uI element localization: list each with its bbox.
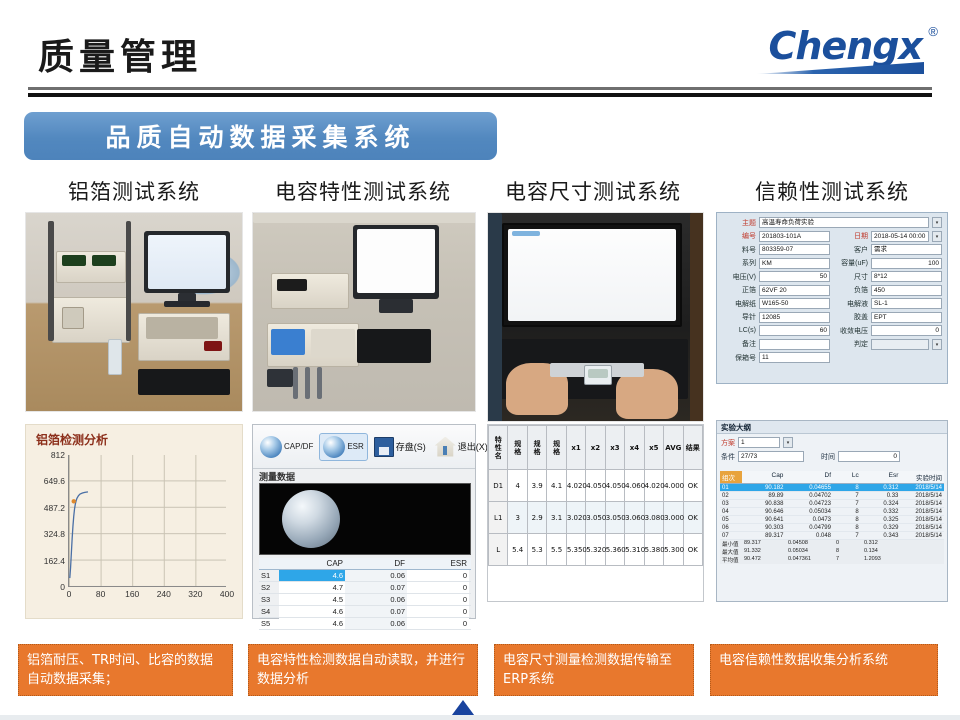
table-row[interactable]: S34.50.060 <box>259 594 471 606</box>
table-cell: S1 <box>259 570 279 581</box>
summary-cell: 平均值 <box>720 556 742 564</box>
form-field: 判定▾ <box>834 339 942 350</box>
table-cell: 2018/5/14 <box>900 524 944 531</box>
form-row: 电压(V)50尺寸8*12 <box>722 271 942 282</box>
table-cell: 0.312 <box>861 484 901 491</box>
summary-cell: 0.05034 <box>786 548 834 556</box>
table-cell: 2018/5/14 <box>900 492 944 499</box>
table-header-cell: 结果 <box>683 426 702 470</box>
foil-analysis-chart: 铝箔检测分析 0162.4324.8487.2649.6812080160240… <box>25 424 243 619</box>
chart-x-tick: 320 <box>188 589 202 599</box>
field-input[interactable]: 11 <box>759 352 830 363</box>
column-esr: Esr <box>861 471 901 483</box>
network-globe-icon <box>282 490 340 548</box>
page-title: 质量管理 <box>38 28 202 80</box>
table-row[interactable]: L132.93.13.0203.0503.0503.0603.0803.000O… <box>489 502 703 534</box>
esr-button[interactable]: ESR <box>319 433 367 461</box>
chevron-down-icon[interactable]: ▾ <box>932 217 942 228</box>
table-cell: S5 <box>259 618 279 629</box>
table-header-cell: 规格 <box>527 426 546 470</box>
field-label: 料号 <box>722 245 756 255</box>
results-table-body: 0190.1820.0465580.3122018/5/140289.890.0… <box>720 484 944 540</box>
chart-y-tick: 487.2 <box>44 503 65 513</box>
form-row: 电解纸W165-50电解液SL-1 <box>722 298 942 309</box>
form-field: 客户需求 <box>834 244 942 255</box>
table-cell: 7 <box>833 532 861 539</box>
table-cell: 05 <box>720 516 742 523</box>
chart-x-tick: 0 <box>67 589 72 599</box>
table-cell: 4.6 <box>279 606 345 617</box>
table-cell: 0.048 <box>785 532 833 539</box>
form-field: 收敛电压0 <box>834 325 942 336</box>
registered-trademark-icon: ® <box>928 24 938 39</box>
form-field: 电解纸W165-50 <box>722 298 830 309</box>
table-header-cell: AVG <box>664 426 683 470</box>
software-toolbar: CAP/DF ESR 存盘(S) 退出(X) <box>253 425 475 469</box>
summary-cell: 90.472 <box>742 556 786 564</box>
subject-field[interactable]: 高温寿命负荷实验 <box>759 217 929 228</box>
table-cell: S4 <box>259 606 279 617</box>
table-cell: 4.050 <box>586 470 605 502</box>
photo-capacitor-characteristics-bench <box>252 212 476 412</box>
table-cell: 8 <box>833 508 861 515</box>
table-cell: 5.380 <box>644 534 663 566</box>
logo-wordmark: Chengx <box>769 24 922 68</box>
chevron-down-icon[interactable]: ▾ <box>932 339 942 350</box>
table-cell: 03 <box>720 500 742 507</box>
table-cell: 0.04723 <box>785 500 833 507</box>
field-input[interactable]: 0 <box>871 325 942 336</box>
form-row: LC(s)60收敛电压0 <box>722 325 942 336</box>
table-header-cell: x3 <box>605 426 624 470</box>
field-label: 负箔 <box>834 285 868 295</box>
table-cell: 0.0473 <box>785 516 833 523</box>
capacitor-measurement-software: CAP/DF ESR 存盘(S) 退出(X) 测量数据 CAP DF ESR S… <box>252 424 476 619</box>
summary-cell: 91.332 <box>742 548 786 556</box>
column-heading-capacitor-dimension: 电容尺寸测试系统 <box>482 176 704 206</box>
caption-foil: 铝箔耐压、TR时间、比容的数据自动数据采集； <box>18 644 233 696</box>
column-df: Df <box>785 471 833 483</box>
table-cell: 90.838 <box>742 500 786 507</box>
table-cell: 07 <box>720 532 742 539</box>
table-cell: 3.1 <box>547 502 566 534</box>
exit-label: 退出(X) <box>458 440 488 453</box>
table-row[interactable]: 0490.6460.0503480.3322018/5/14 <box>720 508 944 516</box>
table-cell: D1 <box>489 470 508 502</box>
summary-cell: 最大值 <box>720 548 742 556</box>
header-divider-bottom <box>28 93 932 97</box>
caption-capacitor-characteristics: 电容特性检测数据自动读取，并进行数据分析 <box>248 644 478 696</box>
summary-cell: 0.04508 <box>786 540 834 548</box>
field-input[interactable]: 62VF 20 <box>759 285 830 296</box>
field-label: 导针 <box>722 312 756 322</box>
summary-row: 最大值91.3320.0503480.134 <box>720 548 944 556</box>
form-row: 编号201803-101A日期2018-05-14 00:00▾ <box>722 231 942 242</box>
plan-row: 方案 1 ▾ <box>721 437 943 448</box>
reliability-experiment-form: 主题 高温寿命负荷实验 ▾ 编号201803-101A日期2018-05-14 … <box>716 212 948 384</box>
chart-x-tick: 80 <box>96 589 105 599</box>
form-field: 尺寸8*12 <box>834 271 942 282</box>
results-header-row: 组次 Cap Df Lc Esr 实验时间 <box>720 471 944 484</box>
table-cell: 0.329 <box>861 524 901 531</box>
table-cell: 2.9 <box>527 502 546 534</box>
field-label: 容量(uF) <box>834 258 868 268</box>
table-cell: 2018/5/14 <box>900 484 944 491</box>
table-header-cell: 规格 <box>508 426 527 470</box>
field-label: 备注 <box>722 339 756 349</box>
table-cell: OK <box>683 502 702 534</box>
table-cell: 3 <box>508 502 527 534</box>
subject-row: 主题 高温寿命负荷实验 ▾ <box>722 217 942 228</box>
table-cell: 2018/5/14 <box>900 516 944 523</box>
header-divider-top <box>28 87 932 90</box>
table-cell: 5.300 <box>664 534 683 566</box>
field-input[interactable]: 50 <box>759 271 830 282</box>
field-input[interactable]: 2018-05-14 00:00 <box>871 231 929 242</box>
form-row: 系列KM容量(uF)100 <box>722 258 942 269</box>
column-group: 组次 <box>720 471 742 483</box>
table-cell: 8 <box>833 516 861 523</box>
field-input[interactable]: 450 <box>871 285 942 296</box>
home-icon <box>435 437 456 457</box>
chart-x-tick: 160 <box>125 589 139 599</box>
table-row[interactable]: 0789.3170.04870.3432018/5/14 <box>720 532 944 540</box>
summary-row: 平均值90.4720.04736171.2093 <box>720 556 944 564</box>
field-label: 日期 <box>834 231 868 241</box>
field-input[interactable]: 201803-101A <box>759 231 830 242</box>
measurement-table-body: S14.60.060S24.70.070S34.50.060S44.60.070… <box>259 570 471 630</box>
chart-x-tick: 240 <box>157 589 171 599</box>
table-cell: 5.310 <box>625 534 644 566</box>
table-row[interactable]: L5.45.35.55.3505.3205.3605.3105.3805.300… <box>489 534 703 566</box>
column-heading-reliability: 信赖性测试系统 <box>716 176 948 206</box>
table-row[interactable]: S54.60.060 <box>259 618 471 630</box>
column-cap: Cap <box>742 471 786 483</box>
table-row[interactable]: 0190.1820.0465580.3122018/5/14 <box>720 484 944 492</box>
table-cell: 90.182 <box>742 484 786 491</box>
field-label: LC(s) <box>722 327 756 334</box>
field-input[interactable]: EPT <box>871 312 942 323</box>
form-field: 系列KM <box>722 258 830 269</box>
summary-cell: 0.134 <box>862 548 902 556</box>
field-input[interactable]: 8*12 <box>871 271 942 282</box>
table-header-cell: x2 <box>586 426 605 470</box>
save-label: 存盘(S) <box>396 440 426 453</box>
field-label: 保箱号 <box>722 353 756 363</box>
table-cell: L1 <box>489 502 508 534</box>
table-row[interactable]: S14.60.060 <box>259 570 471 582</box>
table-cell: 0.04702 <box>785 492 833 499</box>
chart-title: 铝箔检测分析 <box>36 431 108 448</box>
table-cell: 4.7 <box>279 582 345 593</box>
field-label: 尺寸 <box>834 272 868 282</box>
field-input[interactable] <box>759 339 830 350</box>
experiment-outline-controls: 方案 1 ▾ 条件 27/73 时间 0 <box>721 437 943 465</box>
measurement-table-header: CAP DF ESR <box>259 558 471 570</box>
table-row[interactable]: 0590.6410.047380.3252018/5/14 <box>720 516 944 524</box>
table-cell: 0.324 <box>861 500 901 507</box>
table-cell: 5.360 <box>605 534 624 566</box>
table-cell: 0.04799 <box>785 524 833 531</box>
table-cell: 0.06 <box>345 618 407 629</box>
form-row: 备注判定▾ <box>722 339 942 350</box>
table-cell: 90.646 <box>742 508 786 515</box>
form-field: 保箱号11 <box>722 352 830 363</box>
field-input[interactable]: 803359-07 <box>759 244 830 255</box>
table-cell: 2018/5/14 <box>900 532 944 539</box>
table-cell: 4.6 <box>279 570 345 581</box>
table-row[interactable]: 0690.3030.0479980.3292018/5/14 <box>720 524 944 532</box>
table-cell: 4.6 <box>279 618 345 629</box>
summary-cell: 89.317 <box>742 540 786 548</box>
chart-y-tick: 324.8 <box>44 529 65 539</box>
section-banner: 品质自动数据采集系统 <box>24 112 497 160</box>
form-field: 容量(uF)100 <box>834 258 942 269</box>
table-cell: 0.343 <box>861 532 901 539</box>
form-field: 电解液SL-1 <box>834 298 942 309</box>
field-label: 电压(V) <box>722 272 756 282</box>
table-row[interactable]: S24.70.070 <box>259 582 471 594</box>
brand-logo: Chengx ® <box>728 24 938 76</box>
table-cell: 5.3 <box>527 534 546 566</box>
summary-cell: 0.312 <box>862 540 902 548</box>
measurement-data-label: 测量数据 <box>259 470 295 483</box>
chart-series-svg <box>69 455 227 587</box>
table-cell: 3.080 <box>644 502 663 534</box>
caption-dimension: 电容尺寸测量检测数据传输至ERP系统 <box>494 644 694 696</box>
dimension-measurement-table: 特性名规格规格规格x1x2x3x4x5AVG结果 D143.94.14.0204… <box>488 425 703 566</box>
chart-y-tick: 0 <box>60 582 65 592</box>
experiment-results-table: 组次 Cap Df Lc Esr 实验时间 0190.1820.0465580.… <box>720 471 944 564</box>
summary-cell: 8 <box>834 548 862 556</box>
table-header-cell: x4 <box>625 426 644 470</box>
table-cell: 0.332 <box>861 508 901 515</box>
globe-icon <box>260 436 282 458</box>
form-row: 料号803359-07客户需求 <box>722 244 942 255</box>
chart-y-tick: 649.6 <box>44 476 65 486</box>
cap-df-label: CAP/DF <box>284 442 313 451</box>
column-index <box>259 558 279 569</box>
table-row[interactable]: 0390.8380.0472370.3242018/5/14 <box>720 500 944 508</box>
visualization-canvas <box>259 483 471 555</box>
table-cell: 3.050 <box>586 502 605 534</box>
table-header-cell: x5 <box>644 426 663 470</box>
table-cell: 0.06 <box>345 594 407 605</box>
summary-row: 最小值89.3170.0450800.312 <box>720 540 944 548</box>
form-field: 备注 <box>722 339 830 350</box>
column-df: DF <box>345 558 407 569</box>
table-cell: 0.06 <box>345 570 407 581</box>
page-header: 质量管理 Chengx ® <box>0 0 960 100</box>
table-cell: 0 <box>407 618 469 629</box>
field-label: 客户 <box>834 245 868 255</box>
table-cell: 0 <box>407 570 469 581</box>
chart-plot-area: 0162.4324.8487.2649.6812080160240320400 <box>68 455 226 587</box>
condition-input[interactable]: 27/73 <box>738 451 804 462</box>
table-cell: 8 <box>833 484 861 491</box>
table-cell: OK <box>683 470 702 502</box>
chevron-down-icon[interactable]: ▾ <box>783 437 793 448</box>
summary-cell: 最小值 <box>720 540 742 548</box>
form-field: 导针12085 <box>722 312 830 323</box>
table-cell: 7 <box>833 492 861 499</box>
results-summary-rows: 最小值89.3170.0450800.312最大值91.3320.0503480… <box>720 540 944 564</box>
chart-y-tick: 812 <box>51 450 65 460</box>
table-cell: 3.060 <box>625 502 644 534</box>
table-cell: 5.320 <box>586 534 605 566</box>
table-cell: 0.05034 <box>785 508 833 515</box>
form-field: 编号201803-101A <box>722 231 830 242</box>
form-row: 保箱号11 <box>722 352 942 363</box>
footer-divider <box>0 715 960 720</box>
time-input[interactable]: 0 <box>838 451 900 462</box>
table-header-row: 特性名规格规格规格x1x2x3x4x5AVG结果 <box>489 426 703 470</box>
field-label: 胶盖 <box>834 312 868 322</box>
subject-label: 主题 <box>722 218 756 228</box>
table-cell: 5.4 <box>508 534 527 566</box>
plan-select[interactable]: 1 <box>738 437 780 448</box>
table-header-cell: 规格 <box>547 426 566 470</box>
table-cell: 5.350 <box>566 534 585 566</box>
field-label: 判定 <box>834 339 868 349</box>
table-cell: 4.1 <box>547 470 566 502</box>
field-label: 电解纸 <box>722 299 756 309</box>
column-cap: CAP <box>279 558 345 569</box>
table-cell: OK <box>683 534 702 566</box>
field-label: 系列 <box>722 258 756 268</box>
column-heading-foil: 铝箔测试系统 <box>28 176 240 206</box>
table-cell: 0 <box>407 582 469 593</box>
table-row[interactable]: D143.94.14.0204.0504.0504.0604.0204.000O… <box>489 470 703 502</box>
summary-cell: 1.2093 <box>862 556 902 564</box>
photo-caliper-measurement <box>487 212 704 422</box>
condition-label: 条件 <box>721 452 735 462</box>
form-field: 胶盖EPT <box>834 312 942 323</box>
table-cell: 7 <box>833 500 861 507</box>
table-cell: 8 <box>833 524 861 531</box>
field-input[interactable]: W165-50 <box>759 298 830 309</box>
table-cell: 90.303 <box>742 524 786 531</box>
table-cell: 2018/5/14 <box>900 508 944 515</box>
table-header-cell: x1 <box>566 426 585 470</box>
table-cell: 02 <box>720 492 742 499</box>
summary-cell: 7 <box>834 556 862 564</box>
table-cell: 3.000 <box>664 502 683 534</box>
table-cell: 4.000 <box>664 470 683 502</box>
table-cell: 4.5 <box>279 594 345 605</box>
column-esr: ESR <box>407 558 469 569</box>
field-input[interactable] <box>871 339 929 350</box>
table-cell: 90.641 <box>742 516 786 523</box>
table-body: D143.94.14.0204.0504.0504.0604.0204.000O… <box>489 470 703 566</box>
save-button[interactable]: 存盘(S) <box>371 435 429 459</box>
chevron-down-icon[interactable]: ▾ <box>932 231 942 242</box>
chart-y-tick: 162.4 <box>44 556 65 566</box>
field-label: 编号 <box>722 231 756 241</box>
experiment-outline-panel: 实验大纲 方案 1 ▾ 条件 27/73 时间 0 组次 Cap Df Lc E… <box>716 420 948 602</box>
plan-label: 方案 <box>721 438 735 448</box>
measurement-table: CAP DF ESR S14.60.060S24.70.070S34.50.06… <box>259 558 471 630</box>
column-heading-capacitor-characteristics: 电容特性测试系统 <box>252 176 474 206</box>
form-field: 料号803359-07 <box>722 244 830 255</box>
table-cell: 4.050 <box>605 470 624 502</box>
table-row[interactable]: S44.60.070 <box>259 606 471 618</box>
table-header-cell: 特性名 <box>489 426 508 470</box>
column-test-time: 实验时间 <box>900 471 944 483</box>
form-field: 电压(V)50 <box>722 271 830 282</box>
floppy-icon <box>374 437 394 457</box>
table-cell: 0.325 <box>861 516 901 523</box>
form-field: 正箔62VF 20 <box>722 285 830 296</box>
form-row: 正箔62VF 20负箔450 <box>722 285 942 296</box>
summary-cell: 0 <box>834 540 862 548</box>
form-field: 负箔450 <box>834 285 942 296</box>
table-cell: 0.07 <box>345 606 407 617</box>
table-cell: 0.04655 <box>785 484 833 491</box>
table-cell: 06 <box>720 524 742 531</box>
dimension-measurement-table-panel: 特性名规格规格规格x1x2x3x4x5AVG结果 D143.94.14.0204… <box>487 424 704 602</box>
time-label: 时间 <box>821 452 835 462</box>
table-cell: 3.020 <box>566 502 585 534</box>
field-input[interactable]: KM <box>759 258 830 269</box>
field-label: 正箔 <box>722 285 756 295</box>
form-field-rows: 编号201803-101A日期2018-05-14 00:00▾料号803359… <box>722 231 942 364</box>
table-cell: 5.5 <box>547 534 566 566</box>
field-input[interactable]: SL-1 <box>871 298 942 309</box>
table-cell: 0.33 <box>861 492 901 499</box>
form-field: LC(s)60 <box>722 325 830 336</box>
globe-icon <box>323 436 345 458</box>
table-cell: 4.060 <box>625 470 644 502</box>
condition-time-row: 条件 27/73 时间 0 <box>721 451 943 462</box>
table-cell: 3.9 <box>527 470 546 502</box>
table-cell: S2 <box>259 582 279 593</box>
photo-foil-test-bench <box>25 212 243 412</box>
field-input[interactable]: 100 <box>871 258 942 269</box>
field-input[interactable]: 需求 <box>871 244 942 255</box>
experiment-outline-title: 实验大纲 <box>717 421 947 434</box>
table-cell: L <box>489 534 508 566</box>
cap-df-button[interactable]: CAP/DF <box>257 434 316 460</box>
table-cell: 4.020 <box>644 470 663 502</box>
table-cell: 89.317 <box>742 532 786 539</box>
form-row: 导针12085胶盖EPT <box>722 312 942 323</box>
summary-cell: 0.047361 <box>786 556 834 564</box>
table-cell: 89.89 <box>742 492 786 499</box>
form-field: 日期2018-05-14 00:00▾ <box>834 231 942 242</box>
table-cell: 0 <box>407 606 469 617</box>
field-input[interactable]: 60 <box>759 325 830 336</box>
table-cell: 04 <box>720 508 742 515</box>
section-banner-label: 品质自动数据采集系统 <box>105 118 415 154</box>
column-lc: Lc <box>833 471 861 483</box>
field-label: 电解液 <box>834 299 868 309</box>
table-cell: 4 <box>508 470 527 502</box>
table-cell: 3.050 <box>605 502 624 534</box>
table-row[interactable]: 0289.890.0470270.332018/5/14 <box>720 492 944 500</box>
field-input[interactable]: 12085 <box>759 312 830 323</box>
table-cell: 0.07 <box>345 582 407 593</box>
table-cell: 4.020 <box>566 470 585 502</box>
esr-label: ESR <box>347 442 363 451</box>
exit-button[interactable]: 退出(X) <box>432 435 491 459</box>
table-cell: 0 <box>407 594 469 605</box>
table-cell: S3 <box>259 594 279 605</box>
table-cell: 01 <box>720 484 742 491</box>
table-cell: 2018/5/14 <box>900 500 944 507</box>
chart-x-tick: 400 <box>220 589 234 599</box>
field-label: 收敛电压 <box>834 326 868 336</box>
